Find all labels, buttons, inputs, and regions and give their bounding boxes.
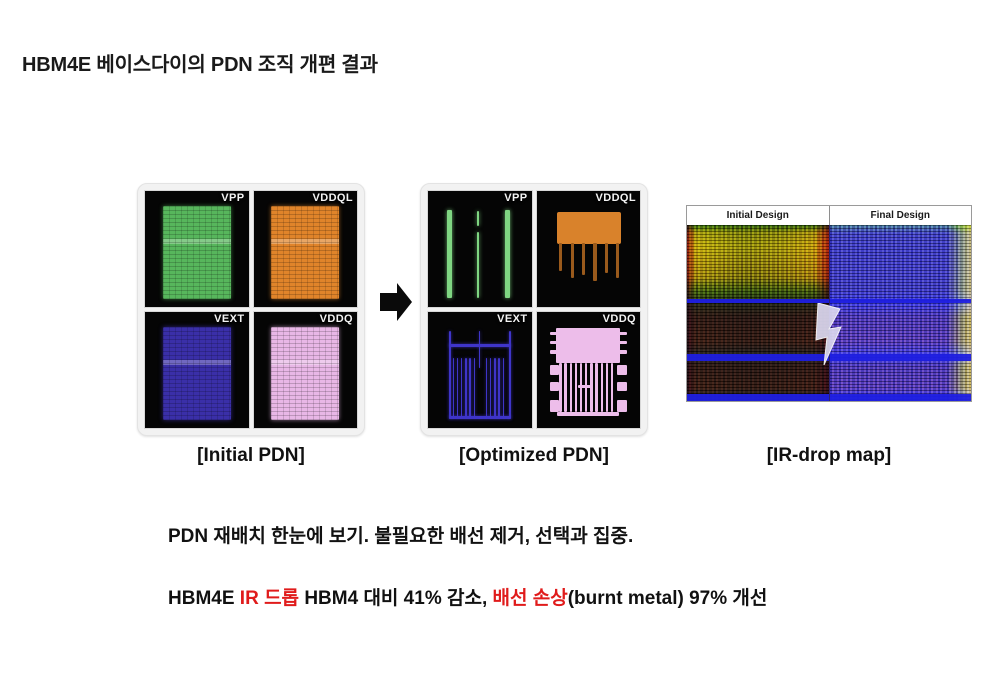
pdn-density-block-vpp bbox=[163, 206, 231, 299]
pdn-plane-vddql bbox=[557, 212, 621, 244]
quadrant-label-vddql: VDDQL bbox=[596, 192, 637, 204]
pdn-finger-vddq-11 bbox=[611, 363, 613, 412]
quadrant-label-vext: VEXT bbox=[497, 313, 527, 325]
pdn-pad-vddq-right-top bbox=[617, 365, 626, 374]
quadrant-label-vpp: VPP bbox=[221, 192, 244, 204]
pdn-leg-vddql-1 bbox=[559, 243, 562, 271]
ir-rail-initial-bottom bbox=[687, 394, 829, 402]
pdn-rail-vpp-mid-bottom bbox=[477, 232, 479, 298]
pdn-tab-vddq-l3 bbox=[550, 350, 557, 353]
initial-pdn-figure: VPP VDDQL VEXT VDDQ bbox=[137, 183, 365, 436]
quadrant-label-vddql: VDDQL bbox=[313, 192, 354, 204]
pdn-rail-vddq-bottom bbox=[557, 412, 619, 417]
pdn-tab-vddq-r3 bbox=[619, 350, 626, 353]
pdn-leg-vddql-2 bbox=[571, 243, 574, 278]
quadrant-vddql-initial: VDDQL bbox=[253, 190, 359, 308]
quadrant-label-vpp: VPP bbox=[504, 192, 527, 204]
quadrant-vpp-optimized: VPP bbox=[427, 190, 533, 308]
summary-line2-seg3: HBM4 대비 41% 감소, bbox=[299, 588, 492, 609]
down-arrow-icon bbox=[814, 303, 844, 365]
caption-optimized-pdn: [Optimized PDN] bbox=[420, 445, 648, 467]
pdn-finger-vddq-9 bbox=[601, 363, 603, 412]
pdn-tab-vddq-l2 bbox=[550, 341, 557, 344]
pdn-leg-vddql-4 bbox=[593, 243, 596, 281]
pdn-finger-vext-4 bbox=[465, 358, 466, 417]
optimized-pdn-quadrant-grid: VPP VDDQL VEXT bbox=[427, 190, 641, 429]
pdn-rail-vpp-left bbox=[447, 210, 453, 298]
quadrant-vddq-optimized: VDDQ bbox=[536, 311, 642, 429]
quadrant-label-vddq: VDDQ bbox=[603, 313, 636, 325]
optimized-pdn-figure: VPP VDDQL VEXT bbox=[420, 183, 648, 436]
pdn-rail-vext-top-bus bbox=[449, 344, 511, 347]
quadrant-vddq-initial: VDDQ bbox=[253, 311, 359, 429]
figure-captions: [Initial PDN] [Optimized PDN] [IR-drop m… bbox=[0, 445, 985, 477]
quadrant-vext-initial: VEXT bbox=[144, 311, 250, 429]
ir-drop-map-figure: Initial Design Final Design bbox=[686, 205, 972, 402]
pdn-finger-vext-2 bbox=[457, 358, 458, 417]
pdn-finger-vext-3 bbox=[461, 358, 462, 417]
quadrant-vext-optimized: VEXT bbox=[427, 311, 533, 429]
pdn-finger-vext-7 bbox=[486, 358, 487, 417]
quadrant-label-vext: VEXT bbox=[214, 313, 244, 325]
pdn-finger-vddq-4 bbox=[575, 363, 577, 412]
pdn-strap-vddq bbox=[578, 385, 592, 388]
pdn-leg-vddql-5 bbox=[605, 243, 608, 273]
quadrant-vpp-initial: VPP bbox=[144, 190, 250, 308]
pdn-finger-vext-5 bbox=[469, 358, 470, 417]
ir-map-initial-half bbox=[687, 225, 829, 402]
ir-map-header-row: Initial Design Final Design bbox=[687, 206, 971, 225]
ir-map-final-half bbox=[829, 225, 972, 402]
pdn-rail-vext-center bbox=[479, 331, 481, 368]
quadrant-label-vddq: VDDQ bbox=[320, 313, 353, 325]
pdn-finger-vddq-10 bbox=[606, 363, 608, 412]
initial-pdn-quadrant-grid: VPP VDDQL VEXT VDDQ bbox=[144, 190, 358, 429]
pdn-finger-vext-8 bbox=[490, 358, 491, 417]
summary-line2-highlight-ir-drop: IR 드롭 bbox=[240, 588, 299, 609]
pdn-finger-vext-6 bbox=[474, 358, 475, 417]
pdn-density-block-vddql bbox=[271, 206, 339, 299]
page-title: HBM4E 베이스다이의 PDN 조직 개편 결과 bbox=[22, 48, 378, 77]
ir-header-initial-design: Initial Design bbox=[687, 206, 830, 225]
ir-rail-initial-lower bbox=[687, 354, 829, 361]
pdn-finger-vddq-2 bbox=[564, 363, 566, 412]
pdn-pad-vddq-left-bot bbox=[550, 400, 559, 412]
pdn-rail-vpp-mid-top bbox=[477, 211, 479, 226]
ir-rail-final-lower bbox=[830, 354, 972, 361]
ir-rail-final-mid bbox=[830, 299, 972, 303]
ir-header-final-design: Final Design bbox=[830, 206, 972, 225]
pdn-pad-vddq-left-mid bbox=[550, 382, 559, 391]
pdn-finger-vext-11 bbox=[503, 358, 504, 417]
pdn-finger-vddq-8 bbox=[595, 363, 597, 412]
summary-line2-highlight-metal-damage: 배선 손상 bbox=[493, 588, 568, 609]
pdn-pad-vddq-right-bot bbox=[617, 400, 626, 412]
pdn-pad-vddq-right-mid bbox=[617, 382, 626, 391]
figure-row: VPP VDDQL VEXT VDDQ VPP bbox=[0, 183, 985, 433]
ir-rail-initial-mid bbox=[687, 299, 829, 303]
pdn-finger-vext-9 bbox=[494, 358, 495, 417]
pdn-leg-vddql-3 bbox=[582, 243, 585, 274]
summary-line2-seg5: (burnt metal) 97% 개선 bbox=[568, 588, 768, 609]
right-arrow-icon bbox=[379, 281, 413, 323]
quadrant-vddql-optimized: VDDQL bbox=[536, 190, 642, 308]
pdn-finger-vext-1 bbox=[453, 358, 454, 417]
ir-map-body bbox=[687, 225, 971, 402]
ir-rail-final-bottom bbox=[830, 394, 972, 402]
ir-row-texture-final bbox=[830, 225, 972, 402]
ir-row-texture-initial bbox=[687, 225, 829, 402]
pdn-finger-vddq-3 bbox=[570, 363, 572, 412]
pdn-leg-vddql-6 bbox=[616, 243, 619, 278]
pdn-finger-vddq-1 bbox=[559, 363, 561, 412]
summary-line-1: PDN 재배치 한눈에 보기. 불필요한 배선 제거, 선택과 집중. bbox=[168, 521, 633, 548]
caption-ir-drop-map: [IR-drop map] bbox=[686, 445, 972, 467]
pdn-plane-vddq bbox=[556, 328, 620, 363]
pdn-pad-vddq-left-top bbox=[550, 365, 559, 374]
pdn-rail-vpp-right bbox=[505, 210, 511, 298]
pdn-density-block-vddq bbox=[271, 327, 339, 420]
summary-line2-seg1: HBM4E bbox=[168, 588, 240, 609]
pdn-density-block-vext bbox=[163, 327, 231, 420]
caption-initial-pdn: [Initial PDN] bbox=[137, 445, 365, 467]
pdn-tab-vddq-r2 bbox=[619, 341, 626, 344]
pdn-finger-vext-10 bbox=[498, 358, 499, 417]
pdn-tab-vddq-r1 bbox=[619, 332, 626, 335]
summary-line-2: HBM4E IR 드롭 HBM4 대비 41% 감소, 배선 손상(burnt … bbox=[168, 583, 767, 610]
pdn-tab-vddq-l1 bbox=[550, 332, 557, 335]
